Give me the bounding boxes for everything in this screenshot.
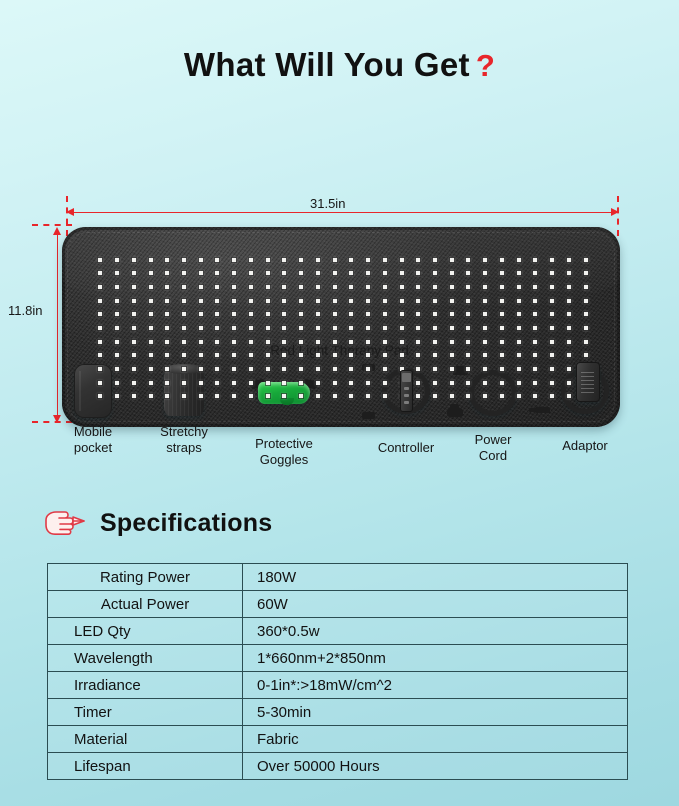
led-dot (266, 381, 270, 385)
led-dot (567, 353, 571, 357)
led-dot (232, 285, 236, 289)
led-dot (199, 258, 203, 262)
led-dot (584, 312, 588, 316)
led-dot (316, 340, 320, 344)
led-dot (115, 285, 119, 289)
led-dot (132, 381, 136, 385)
led-dot (316, 353, 320, 357)
led-dot (400, 340, 404, 344)
table-row: Rating Power180W (48, 564, 628, 591)
led-dot (115, 299, 119, 303)
led-dot (249, 299, 253, 303)
led-dot (215, 381, 219, 385)
height-arrow-up-icon (53, 227, 61, 235)
led-dot (400, 299, 404, 303)
led-dot (550, 394, 554, 398)
led-dot (266, 312, 270, 316)
led-dot (182, 299, 186, 303)
led-dot (98, 312, 102, 316)
led-dot (165, 353, 169, 357)
height-dimension-label: 11.8in (8, 303, 42, 318)
led-dot (132, 312, 136, 316)
led-dot (215, 312, 219, 316)
led-dot (316, 271, 320, 275)
spec-key: Actual Power (48, 591, 243, 618)
led-dot (450, 381, 454, 385)
led-dot (500, 312, 504, 316)
spec-value: Fabric (243, 726, 628, 753)
led-dot (115, 312, 119, 316)
led-dot (483, 340, 487, 344)
led-dot (115, 367, 119, 371)
led-dot (316, 285, 320, 289)
led-dot (149, 367, 153, 371)
width-arrow-right-icon (611, 208, 619, 216)
table-row: LifespanOver 50000 Hours (48, 753, 628, 780)
accessory-label-line1: Mobile (74, 424, 112, 439)
led-dot (366, 258, 370, 262)
led-dot (517, 312, 521, 316)
led-dot (416, 394, 420, 398)
led-dot (500, 353, 504, 357)
led-dot (433, 381, 437, 385)
led-dot (165, 367, 169, 371)
led-dot (550, 340, 554, 344)
led-dot (466, 353, 470, 357)
led-dot (215, 299, 219, 303)
led-dot (450, 258, 454, 262)
led-dot (466, 285, 470, 289)
led-dot (199, 299, 203, 303)
led-dot (416, 367, 420, 371)
led-dot (232, 340, 236, 344)
led-dot (567, 381, 571, 385)
led-dot (299, 258, 303, 262)
spec-value: 60W (243, 591, 628, 618)
led-dot (517, 353, 521, 357)
led-dot (115, 353, 119, 357)
led-dot (550, 326, 554, 330)
led-dot (98, 299, 102, 303)
led-dot (282, 326, 286, 330)
led-dot (500, 367, 504, 371)
led-dot (282, 271, 286, 275)
led-dot (533, 381, 537, 385)
led-dot (400, 353, 404, 357)
led-dot (383, 381, 387, 385)
led-dot (249, 312, 253, 316)
led-dot (282, 299, 286, 303)
led-dot (165, 299, 169, 303)
led-dot (165, 340, 169, 344)
led-dot (450, 367, 454, 371)
led-dot (433, 326, 437, 330)
led-dot (98, 367, 102, 371)
led-dot (333, 326, 337, 330)
led-dot (165, 258, 169, 262)
led-dot (400, 285, 404, 289)
accessory-label-line1: Adaptor (562, 438, 608, 453)
led-dot (567, 312, 571, 316)
led-dot (149, 299, 153, 303)
led-dot (584, 299, 588, 303)
accessory-label-line1: Stretchy (160, 424, 208, 439)
accessory-label-line2: Cord (479, 448, 507, 463)
led-dot (450, 353, 454, 357)
led-dot (232, 367, 236, 371)
led-dot (199, 285, 203, 289)
led-dot (533, 367, 537, 371)
spec-key: Rating Power (48, 564, 243, 591)
led-dot (182, 367, 186, 371)
led-dot (533, 285, 537, 289)
led-dot (466, 367, 470, 371)
led-dot (550, 258, 554, 262)
led-dot (182, 340, 186, 344)
led-dot (433, 367, 437, 371)
led-dot (199, 367, 203, 371)
led-dot (416, 326, 420, 330)
led-dot (550, 367, 554, 371)
led-dot (517, 340, 521, 344)
led-dot (299, 367, 303, 371)
led-dot (299, 271, 303, 275)
led-dot (567, 271, 571, 275)
led-dot (483, 312, 487, 316)
led-dot (333, 271, 337, 275)
led-dot (199, 381, 203, 385)
led-dot (199, 340, 203, 344)
led-dot (483, 394, 487, 398)
led-dot (383, 312, 387, 316)
led-dot (517, 394, 521, 398)
led-dot (132, 299, 136, 303)
led-dot (416, 312, 420, 316)
led-dot (567, 285, 571, 289)
led-dot (533, 258, 537, 262)
led-dot (316, 312, 320, 316)
led-dot (299, 340, 303, 344)
led-dot (165, 312, 169, 316)
dimension-guide-left-vertical (66, 196, 68, 236)
led-dot (98, 271, 102, 275)
led-dot (450, 312, 454, 316)
accessory-label-line1: Power (475, 432, 512, 447)
led-dot (483, 271, 487, 275)
led-dot (132, 394, 136, 398)
led-dot (483, 353, 487, 357)
led-dot (149, 326, 153, 330)
led-dot (98, 353, 102, 357)
led-dot (550, 285, 554, 289)
accessory-label-line1: Controller (378, 440, 434, 455)
led-dot (98, 394, 102, 398)
led-dot (500, 285, 504, 289)
led-dot (266, 353, 270, 357)
led-dot (450, 394, 454, 398)
led-dot (416, 258, 420, 262)
led-dot (550, 353, 554, 357)
led-dot (500, 381, 504, 385)
accessory-label-line2: straps (166, 440, 201, 455)
led-dot (149, 394, 153, 398)
led-dot (466, 326, 470, 330)
led-dot (182, 326, 186, 330)
spec-key: Wavelength (48, 645, 243, 672)
led-dot (416, 340, 420, 344)
accessory-label-line1: Protective (255, 436, 313, 451)
led-dot (333, 258, 337, 262)
led-dot (249, 285, 253, 289)
led-dot (349, 271, 353, 275)
led-dot (483, 299, 487, 303)
led-dot (450, 299, 454, 303)
led-dot (383, 353, 387, 357)
led-dot (115, 340, 119, 344)
led-dot (517, 367, 521, 371)
led-dot (282, 381, 286, 385)
spec-key: Material (48, 726, 243, 753)
led-dot (316, 394, 320, 398)
led-dot (517, 258, 521, 262)
led-dot (550, 271, 554, 275)
led-dot (433, 394, 437, 398)
led-dot (98, 285, 102, 289)
led-dot (182, 394, 186, 398)
dimension-guide-right-vertical (617, 196, 619, 236)
width-dimension-label: 31.5in (310, 196, 345, 211)
led-dot (282, 285, 286, 289)
led-dot (132, 353, 136, 357)
led-dot (165, 271, 169, 275)
led-dot (349, 258, 353, 262)
led-dot (366, 381, 370, 385)
led-dot (433, 258, 437, 262)
led-dot (349, 367, 353, 371)
led-dot (98, 258, 102, 262)
led-dot (366, 271, 370, 275)
led-dot (483, 326, 487, 330)
spec-value: 0-1in*:>18mW/cm^2 (243, 672, 628, 699)
led-dot (450, 285, 454, 289)
led-dot (433, 285, 437, 289)
led-dot (215, 340, 219, 344)
led-dot (149, 312, 153, 316)
led-dot (349, 326, 353, 330)
led-dot (533, 394, 537, 398)
led-dot (149, 258, 153, 262)
led-dot (316, 381, 320, 385)
led-dot (366, 353, 370, 357)
led-dot (115, 394, 119, 398)
led-dot (215, 326, 219, 330)
led-dot (232, 258, 236, 262)
led-dot (366, 326, 370, 330)
spec-value: Over 50000 Hours (243, 753, 628, 780)
led-dot (149, 340, 153, 344)
led-dot (266, 340, 270, 344)
led-dot (533, 271, 537, 275)
led-dot (299, 394, 303, 398)
led-dot (98, 381, 102, 385)
led-dot (249, 326, 253, 330)
led-dot (517, 271, 521, 275)
led-dot (299, 381, 303, 385)
led-dot (282, 367, 286, 371)
led-dot (199, 326, 203, 330)
led-dot (182, 258, 186, 262)
led-dot (433, 340, 437, 344)
spec-value: 360*0.5w (243, 618, 628, 645)
led-dot (266, 326, 270, 330)
red-light-therapy-pad-image (62, 227, 620, 427)
led-dot (333, 381, 337, 385)
led-dot (333, 353, 337, 357)
led-dot (416, 299, 420, 303)
led-dot (500, 340, 504, 344)
spec-value: 1*660nm+2*850nm (243, 645, 628, 672)
led-dot (584, 326, 588, 330)
led-dot (400, 258, 404, 262)
led-dot (584, 271, 588, 275)
led-dot (517, 285, 521, 289)
led-dot (299, 326, 303, 330)
led-dot (466, 394, 470, 398)
led-dot (132, 271, 136, 275)
led-dot (517, 299, 521, 303)
led-dot (182, 312, 186, 316)
led-dot (182, 285, 186, 289)
led-dot (383, 299, 387, 303)
led-dot (333, 394, 337, 398)
led-dot (333, 285, 337, 289)
led-dot (215, 353, 219, 357)
led-dot (483, 381, 487, 385)
accessory-label-line2: Goggles (260, 452, 308, 467)
led-dot (584, 258, 588, 262)
led-dot (383, 340, 387, 344)
led-dot (533, 299, 537, 303)
led-dot (517, 326, 521, 330)
led-dot (567, 326, 571, 330)
led-dot (115, 258, 119, 262)
led-dot (249, 258, 253, 262)
led-dot (232, 271, 236, 275)
led-dot (165, 285, 169, 289)
led-dot (483, 367, 487, 371)
led-dot (500, 258, 504, 262)
spec-key: Timer (48, 699, 243, 726)
led-dot (115, 381, 119, 385)
led-dot (366, 394, 370, 398)
led-dot (500, 326, 504, 330)
led-dot (215, 271, 219, 275)
led-dot (249, 394, 253, 398)
led-dot (450, 326, 454, 330)
question-mark-icon: ? (476, 48, 495, 83)
led-dot (98, 340, 102, 344)
table-row: Actual Power60W (48, 591, 628, 618)
led-dot (533, 340, 537, 344)
led-dot (366, 367, 370, 371)
led-dot (333, 340, 337, 344)
led-dot (215, 258, 219, 262)
led-dot (249, 340, 253, 344)
led-dot (567, 258, 571, 262)
led-dot (232, 299, 236, 303)
product-hero: 31.5in 11.8in (0, 96, 679, 346)
led-dot (333, 312, 337, 316)
led-dot (400, 312, 404, 316)
page-title: What Will You Get? (0, 46, 679, 84)
led-dot (466, 381, 470, 385)
led-dot (249, 353, 253, 357)
led-dot (349, 299, 353, 303)
led-dot (215, 394, 219, 398)
led-dot (165, 394, 169, 398)
led-dot (299, 299, 303, 303)
led-dot (232, 326, 236, 330)
specifications-title: Specifications (100, 509, 272, 538)
led-dot (567, 367, 571, 371)
led-dot (149, 285, 153, 289)
led-dot (98, 326, 102, 330)
led-dot (266, 271, 270, 275)
led-dot (533, 312, 537, 316)
led-dot (266, 285, 270, 289)
led-dot (433, 299, 437, 303)
table-row: Timer5-30min (48, 699, 628, 726)
led-dot (282, 312, 286, 316)
led-dot (567, 299, 571, 303)
led-dot (282, 340, 286, 344)
led-dot (500, 299, 504, 303)
led-dot (483, 285, 487, 289)
led-dot (232, 312, 236, 316)
led-dot (132, 340, 136, 344)
led-dot (550, 381, 554, 385)
led-dot (383, 271, 387, 275)
specifications-header: Specifications (40, 506, 272, 540)
led-dot (366, 312, 370, 316)
table-row: Wavelength1*660nm+2*850nm (48, 645, 628, 672)
led-dot (316, 299, 320, 303)
table-row: Irradiance0-1in*:>18mW/cm^2 (48, 672, 628, 699)
led-dot (500, 271, 504, 275)
led-dot (500, 394, 504, 398)
led-dot (567, 340, 571, 344)
led-dot (349, 312, 353, 316)
spec-key: Irradiance (48, 672, 243, 699)
led-dot (182, 381, 186, 385)
led-dot (282, 394, 286, 398)
led-dot (232, 353, 236, 357)
led-dot (299, 312, 303, 316)
led-dot (349, 381, 353, 385)
led-dot (232, 394, 236, 398)
accessory-label-line2: pocket (74, 440, 112, 455)
led-dot (266, 367, 270, 371)
led-dot (182, 271, 186, 275)
led-dot (249, 367, 253, 371)
led-grid (92, 253, 594, 403)
led-dot (115, 326, 119, 330)
led-dot (450, 271, 454, 275)
led-dot (349, 394, 353, 398)
led-dot (132, 367, 136, 371)
table-row: LED Qty360*0.5w (48, 618, 628, 645)
led-dot (383, 367, 387, 371)
